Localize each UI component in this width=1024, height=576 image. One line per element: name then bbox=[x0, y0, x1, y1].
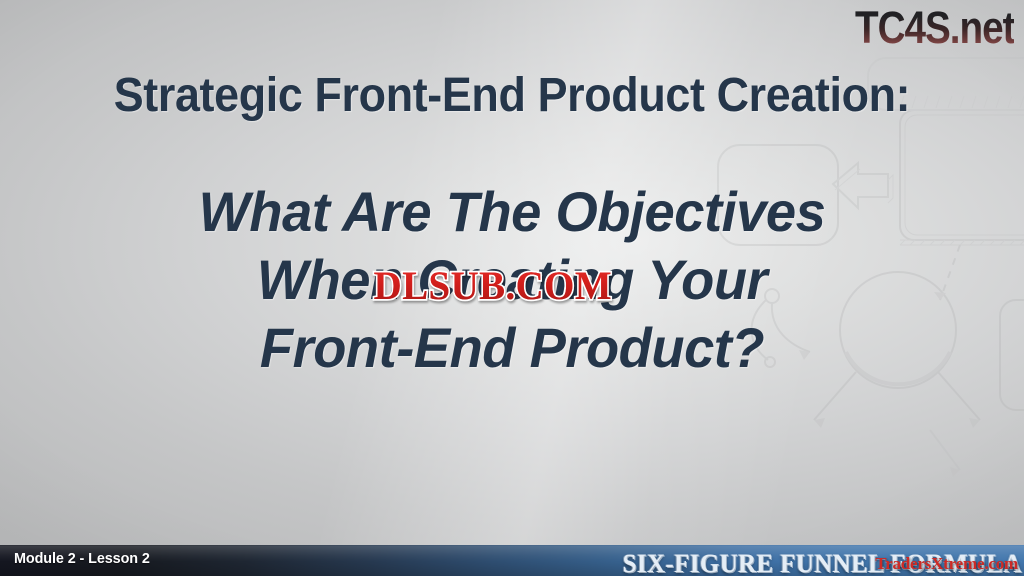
tc4s-logo: TC4S.net bbox=[855, 2, 1014, 54]
footer-bar: Module 2 - Lesson 2 SIX-FIGURE FUNNEL FO… bbox=[0, 545, 1024, 576]
heading-line-1: What Are The Objectives bbox=[15, 178, 1008, 246]
lesson-label: Module 2 - Lesson 2 bbox=[14, 550, 150, 567]
tradersxtreme-watermark: TradersXtreme.com bbox=[875, 554, 1018, 574]
dlsub-watermark: DLSUB.COM bbox=[374, 262, 612, 309]
slide-canvas: TC4S.net Strategic Front-End Product Cre… bbox=[0, 0, 1024, 576]
heading-line-3: Front-End Product? bbox=[15, 314, 1008, 382]
page-title: Strategic Front-End Product Creation: bbox=[33, 68, 990, 123]
